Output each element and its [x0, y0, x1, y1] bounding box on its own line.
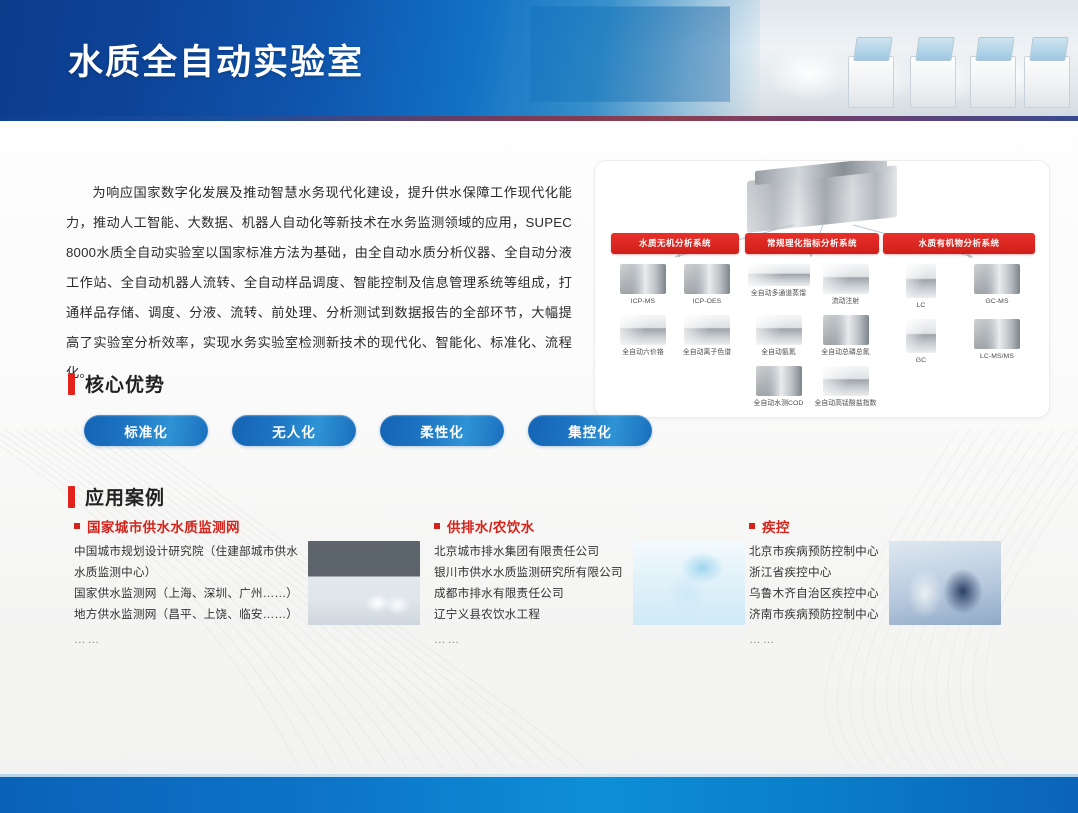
case-line: 乌鲁木齐自治区疾控中心 [749, 583, 879, 604]
equipment-item: 全自动总磷总氮 [812, 315, 879, 357]
equipment-caption: ICP-MS [611, 297, 675, 306]
advantage-pill-list: 标准化 无人化 柔性化 集控化 [84, 415, 652, 446]
intro-paragraph: 为响应国家数字化发展及推动智慧水务现代化建设，提升供水保障工作现代化能力，推动人… [66, 178, 572, 388]
equipment-item: 全自动六价铬 [611, 315, 675, 357]
instrument-icon [906, 264, 936, 298]
instrument-icon [823, 366, 869, 396]
instrument-icon [748, 264, 810, 286]
case-body: 中国城市规划设计研究院（住建部城市供水 水质监测中心） 国家供水监测网（上海、深… [74, 541, 434, 650]
equipment-item: LC-MS/MS [959, 319, 1035, 365]
case-column-national-network: 国家城市供水水质监测网 中国城市规划设计研究院（住建部城市供水 水质监测中心） … [74, 516, 434, 650]
diagram-equipment-grid: 全自动多通道蒸馏 流动注射 全自动氨氮 全自动总磷总氮 全自动水测COD [745, 264, 879, 417]
advantage-pill-centralized-control[interactable]: 集控化 [528, 415, 652, 446]
equipment-caption: 全自动氨氮 [745, 348, 812, 357]
case-photo [633, 541, 745, 625]
page-footer-bar [0, 777, 1078, 813]
equipment-caption: 全自动高锰酸盐指数 [812, 399, 879, 408]
case-line: 辽宁义县农饮水工程 [434, 604, 623, 625]
equipment-caption: 全自动多通道蒸馏 [745, 289, 812, 298]
case-line: 水质监测中心） [74, 562, 298, 583]
section-heading-advantages: 核心优势 [68, 370, 165, 397]
case-body: 北京城市排水集团有限责任公司 银川市供水水质监测研究所有限公司 成都市排水有限责… [434, 541, 749, 650]
equipment-item: ICP-OES [675, 264, 739, 306]
case-line: 银川市供水水质监测研究所有限公司 [434, 562, 623, 583]
case-column-water-supply-drainage: 供排水/农饮水 北京城市排水集团有限责任公司 银川市供水水质监测研究所有限公司 … [434, 516, 749, 650]
equipment-caption: 全自动水测COD [745, 399, 812, 408]
instrument-icon [620, 315, 666, 345]
diagram-equipment-grid: LC GC-MS GC LC-MS/MS [883, 264, 1035, 374]
equipment-caption: 全自动总磷总氮 [812, 348, 879, 357]
case-line: 国家供水监测网（上海、深圳、广州……） [74, 583, 298, 604]
equipment-item: LC [883, 264, 959, 310]
equipment-item: ICP-MS [611, 264, 675, 306]
slide-page: 水质全自动实验室 [0, 0, 1078, 813]
instrument-icon [823, 315, 869, 345]
case-photo [308, 541, 420, 625]
equipment-item: 全自动离子色谱 [675, 315, 739, 357]
case-title-text: 疾控 [762, 516, 790, 536]
diagram-column-organic: 水质有机物分析系统 LC GC-MS GC LC-MS/MS [883, 233, 1035, 374]
diagram-category-label: 常规理化指标分析系统 [745, 233, 879, 254]
header-photo-instrument [1024, 56, 1070, 108]
case-more-ellipsis: …… [434, 629, 623, 650]
header-photo-instrument [848, 56, 894, 108]
diagram-category-label: 水质无机分析系统 [611, 233, 739, 254]
case-title: 疾控 [749, 516, 1034, 536]
case-text-lines: 中国城市规划设计研究院（住建部城市供水 水质监测中心） 国家供水监测网（上海、深… [74, 541, 298, 650]
instrument-icon [906, 319, 936, 353]
equipment-caption: GC [883, 356, 959, 365]
equipment-caption: ICP-OES [675, 297, 739, 306]
page-title: 水质全自动实验室 [68, 34, 364, 85]
case-photo [889, 541, 1001, 625]
bullet-square-icon [74, 523, 80, 529]
case-more-ellipsis: …… [749, 629, 879, 650]
case-study-list: 国家城市供水水质监测网 中国城市规划设计研究院（住建部城市供水 水质监测中心） … [74, 516, 1034, 650]
equipment-item: 全自动氨氮 [745, 315, 812, 357]
bullet-square-icon [434, 523, 440, 529]
instrument-icon [620, 264, 666, 294]
advantage-pill-unmanned[interactable]: 无人化 [232, 415, 356, 446]
case-title-text: 供排水/农饮水 [447, 516, 535, 536]
instrument-icon [756, 366, 802, 396]
instrument-icon [684, 315, 730, 345]
header-divider-rule [0, 116, 1078, 121]
advantage-pill-standardization[interactable]: 标准化 [84, 415, 208, 446]
section-heading-cases: 应用案例 [68, 483, 165, 510]
case-line: 地方供水监测网（昌平、上饶、临安……） [74, 604, 298, 625]
page-header: 水质全自动实验室 [0, 0, 1078, 118]
diagram-equipment-grid: ICP-MS ICP-OES 全自动六价铬 全自动离子色谱 [611, 264, 739, 366]
case-line: 济南市疾病预防控制中心 [749, 604, 879, 625]
equipment-item: 流动注射 [812, 264, 879, 306]
case-more-ellipsis: …… [74, 629, 298, 650]
diagram-category-label: 水质有机物分析系统 [883, 233, 1035, 254]
case-text-lines: 北京城市排水集团有限责任公司 银川市供水水质监测研究所有限公司 成都市排水有限责… [434, 541, 623, 650]
heading-accent-bar [68, 486, 75, 508]
case-title: 国家城市供水水质监测网 [74, 516, 434, 536]
case-title-text: 国家城市供水水质监测网 [87, 516, 240, 536]
equipment-caption: 全自动离子色谱 [675, 348, 739, 357]
equipment-item: GC-MS [959, 264, 1035, 310]
equipment-item: 全自动多通道蒸馏 [745, 264, 812, 306]
header-photo-instrument [910, 56, 956, 108]
equipment-item: GC [883, 319, 959, 365]
case-line: 北京城市排水集团有限责任公司 [434, 541, 623, 562]
case-body: 北京市疾病预防控制中心 浙江省疾控中心 乌鲁木齐自治区疾控中心 济南市疾病预防控… [749, 541, 1034, 650]
instrument-icon [756, 315, 802, 345]
instrument-icon [823, 264, 869, 294]
equipment-caption: 全自动六价铬 [611, 348, 675, 357]
case-column-cdc: 疾控 北京市疾病预防控制中心 浙江省疾控中心 乌鲁木齐自治区疾控中心 济南市疾病… [749, 516, 1034, 650]
diagram-column-inorganic: 水质无机分析系统 ICP-MS ICP-OES 全自动六价铬 全自动离子色谱 [611, 233, 739, 366]
advantage-pill-flexibility[interactable]: 柔性化 [380, 415, 504, 446]
equipment-caption: GC-MS [959, 297, 1035, 306]
instrument-icon [974, 264, 1020, 294]
diagram-column-physicochemical: 常规理化指标分析系统 全自动多通道蒸馏 流动注射 全自动氨氮 全自动总磷总氮 [745, 233, 879, 417]
case-line: 北京市疾病预防控制中心 [749, 541, 879, 562]
equipment-caption: LC [883, 301, 959, 310]
bullet-square-icon [749, 523, 755, 529]
case-line: 成都市排水有限责任公司 [434, 583, 623, 604]
section-title: 应用案例 [85, 483, 165, 510]
instrument-icon [684, 264, 730, 294]
case-title: 供排水/农饮水 [434, 516, 749, 536]
case-line: 中国城市规划设计研究院（住建部城市供水 [74, 541, 298, 562]
equipment-item: 全自动高锰酸盐指数 [812, 366, 879, 408]
heading-accent-bar [68, 373, 75, 395]
section-title: 核心优势 [85, 370, 165, 397]
equipment-caption: LC-MS/MS [959, 352, 1035, 361]
system-architecture-diagram: 水质无机分析系统 ICP-MS ICP-OES 全自动六价铬 全自动离子色谱 [594, 160, 1050, 418]
case-line: 浙江省疾控中心 [749, 562, 879, 583]
instrument-icon [974, 319, 1020, 349]
equipment-caption: 流动注射 [812, 297, 879, 306]
equipment-item: 全自动水测COD [745, 366, 812, 408]
header-photo-instrument [970, 56, 1016, 108]
case-text-lines: 北京市疾病预防控制中心 浙江省疾控中心 乌鲁木齐自治区疾控中心 济南市疾病预防控… [749, 541, 879, 650]
